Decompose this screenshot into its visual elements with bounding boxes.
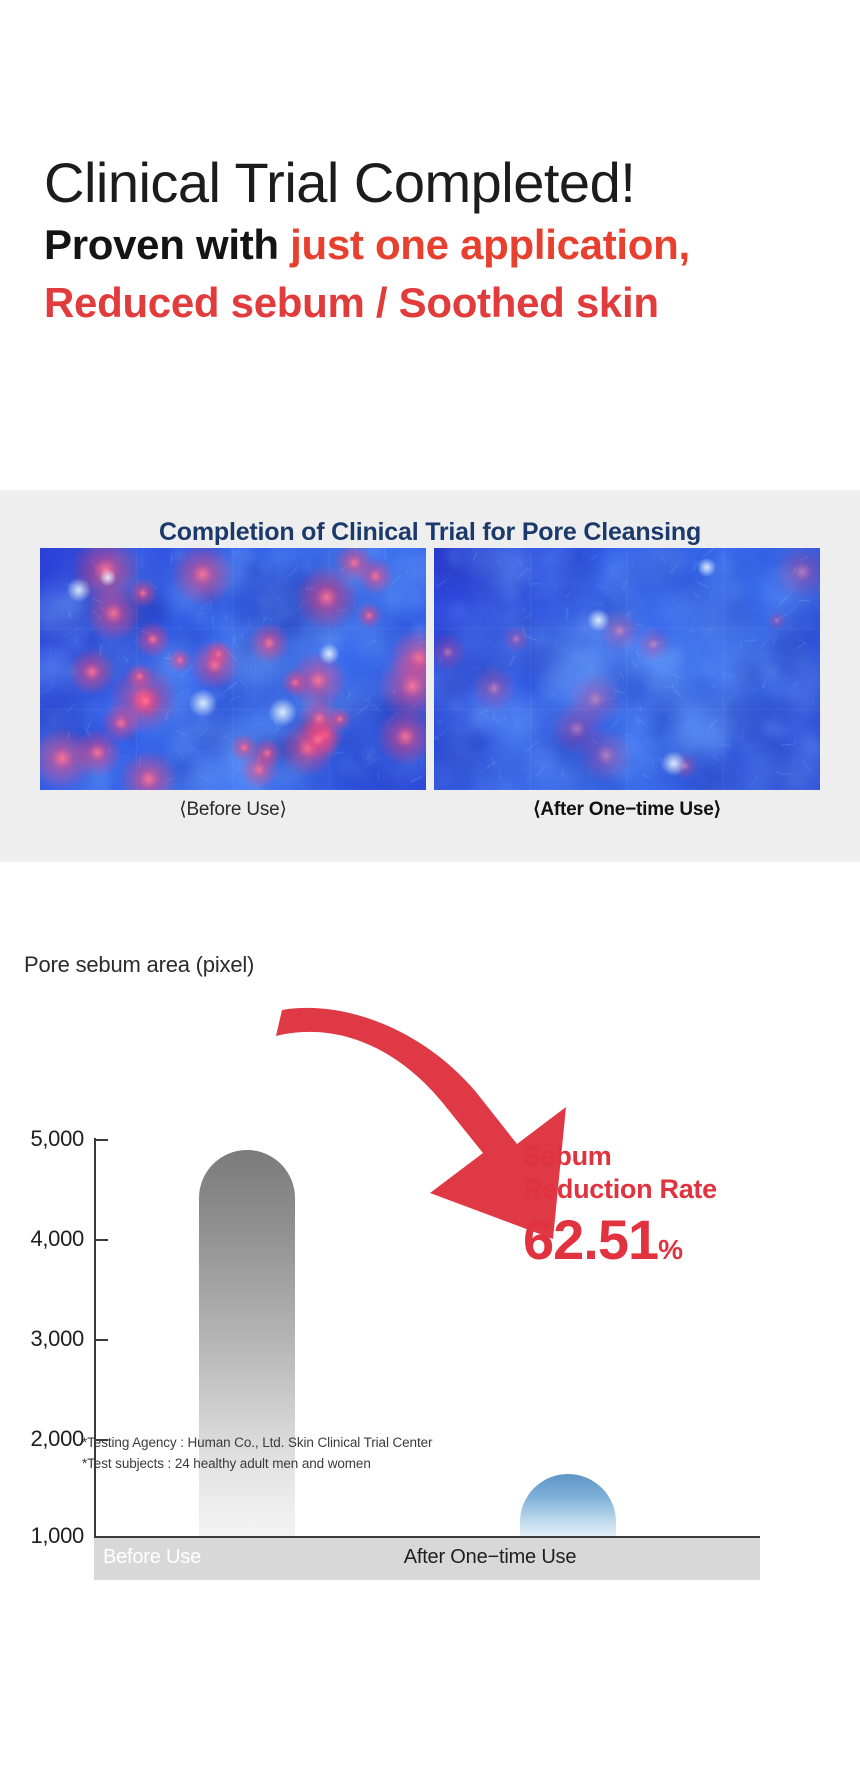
hero-line-2-plain: Proven with: [44, 221, 290, 268]
footnote-testing-agency: *Testing Agency : Human Co., Ltd. Skin C…: [82, 1432, 432, 1453]
hero-line-3: Reduced sebum / Soothed skin: [44, 274, 824, 332]
clinical-trial-panel: Completion of Clinical Trial for Pore Cl…: [0, 490, 860, 862]
x-label-after-use: After One−time Use: [370, 1546, 610, 1569]
hero-line-2: Proven with just one application,: [44, 216, 824, 274]
caption-after-use: ⟨After One−time Use⟩: [434, 798, 820, 838]
y-axis-line: [94, 1138, 96, 1538]
skin-photo-captions: ⟨Before Use⟩ ⟨After One−time Use⟩: [40, 798, 820, 838]
sebum-reduction-annotation: Sebum Reduction Rate 62.51%: [523, 1140, 823, 1280]
y-tick-5000: [94, 1139, 108, 1141]
y-label-3000: 3,000: [4, 1326, 84, 1352]
annotation-value-wrap: 62.51%: [523, 1210, 823, 1280]
footnote-test-subjects: *Test subjects : 24 healthy adult men an…: [82, 1453, 432, 1474]
hero-heading: Clinical Trial Completed! Proven with ju…: [44, 150, 824, 332]
sebum-bar-chart: Pore sebum area (pixel) 5,000 4,000 3,00…: [0, 940, 860, 1710]
y-label-4000: 4,000: [4, 1226, 84, 1252]
annotation-value: 62.51: [523, 1208, 658, 1271]
bar-before-use: [199, 1150, 295, 1538]
hero-line-2-accent: just one application,: [290, 221, 690, 268]
x-label-before-use: Before Use: [32, 1546, 272, 1569]
y-tick-4000: [94, 1239, 108, 1241]
annotation-line-1: Sebum: [523, 1140, 823, 1173]
y-axis-title: Pore sebum area (pixel): [24, 952, 254, 978]
annotation-unit: %: [658, 1234, 683, 1265]
before-use-skin-photo: [40, 548, 426, 790]
skin-photo-row: [40, 548, 820, 790]
annotation-line-2: Reduction Rate: [523, 1173, 823, 1206]
panel-title: Completion of Clinical Trial for Pore Cl…: [0, 518, 860, 547]
hero-line-1: Clinical Trial Completed!: [44, 150, 824, 216]
y-label-2000: 2,000: [4, 1426, 84, 1452]
bar-after-use: [520, 1474, 616, 1538]
after-use-skin-photo: [434, 548, 820, 790]
y-label-5000: 5,000: [4, 1126, 84, 1152]
caption-before-use: ⟨Before Use⟩: [40, 798, 426, 838]
chart-footnotes: *Testing Agency : Human Co., Ltd. Skin C…: [82, 1432, 432, 1474]
y-tick-3000: [94, 1339, 108, 1341]
